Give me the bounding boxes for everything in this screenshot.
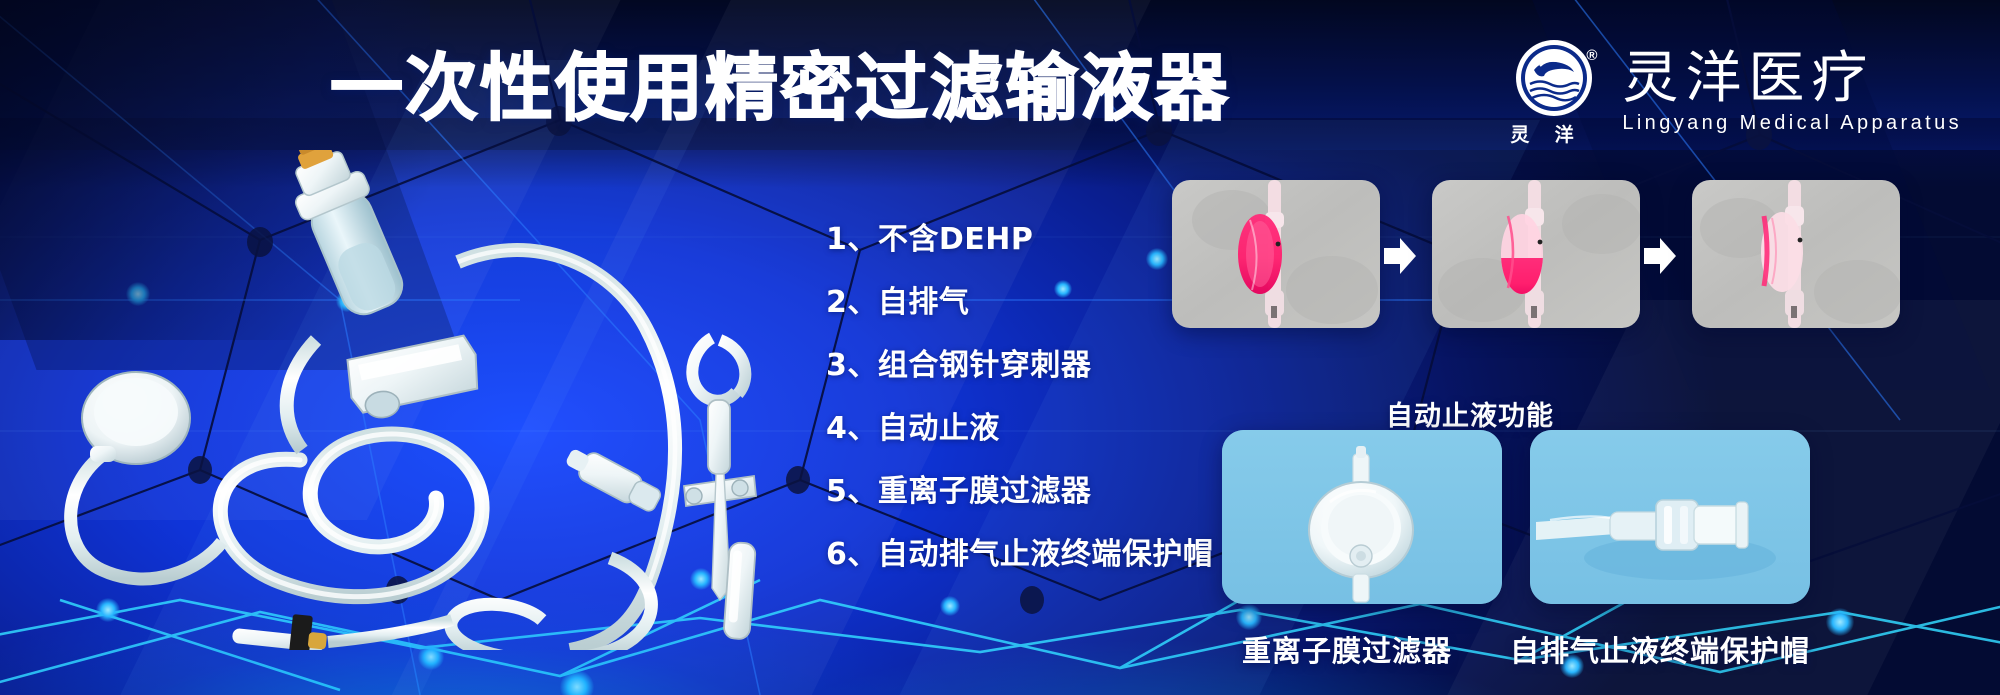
sequence-card-2 bbox=[1432, 180, 1640, 328]
logo-mark-subtext: 灵 洋 bbox=[1510, 120, 1598, 147]
infusion-set-illustration bbox=[50, 150, 840, 650]
sequence-arrow-2 bbox=[1642, 236, 1678, 276]
self-venting-end-cap-photo bbox=[1530, 430, 1810, 604]
hero-product-image bbox=[50, 150, 840, 650]
product-banner: 一次性使用精密过滤输液器 ® 灵 洋 灵洋医疗 Lingyang Medical… bbox=[0, 0, 2000, 695]
page-title: 一次性使用精密过滤输液器 bbox=[330, 47, 1230, 131]
sequence-caption: 自动止液功能 bbox=[1386, 394, 1554, 433]
product-caption-filter: 重离子膜过滤器 bbox=[1242, 628, 1452, 670]
feature-item-6: 6、自动排气止液终端保护帽 bbox=[826, 537, 1213, 573]
product-caption-end-cap: 自排气止液终端保护帽 bbox=[1510, 628, 1810, 670]
feature-item-4: 4、自动止液 bbox=[826, 411, 1213, 447]
product-card-end-cap bbox=[1530, 430, 1810, 604]
stop-valve-photo-step-1 bbox=[1172, 180, 1380, 328]
registered-trademark-icon: ® bbox=[1586, 48, 1597, 63]
product-card-filter bbox=[1222, 430, 1502, 604]
brand-name-en: Lingyang Medical Apparatus bbox=[1622, 111, 1962, 135]
feature-item-2: 2、自排气 bbox=[826, 285, 1213, 321]
brand-name-cn: 灵洋医疗 bbox=[1622, 49, 1962, 109]
seal-emblem-icon bbox=[1516, 40, 1592, 116]
sequence-card-3 bbox=[1692, 180, 1900, 328]
brand-logo: ® 灵 洋 灵洋医疗 Lingyang Medical Apparatus bbox=[1510, 40, 1962, 144]
feature-item-1: 1、不含DEHP bbox=[826, 222, 1213, 258]
feature-list: 1、不含DEHP 2、自排气 3、组合钢针穿刺器 4、自动止液 5、重离子膜过滤… bbox=[826, 222, 1213, 573]
sequence-arrow-1 bbox=[1382, 236, 1418, 276]
stop-valve-photo-step-3 bbox=[1692, 180, 1900, 328]
heavy-ion-membrane-filter-photo bbox=[1222, 430, 1502, 604]
lingyang-seal-icon: ® 灵 洋 bbox=[1510, 40, 1602, 144]
sequence-card-1 bbox=[1172, 180, 1380, 328]
stop-valve-photo-step-2 bbox=[1432, 180, 1640, 328]
feature-item-3: 3、组合钢针穿刺器 bbox=[826, 348, 1213, 384]
feature-item-5: 5、重离子膜过滤器 bbox=[826, 474, 1213, 510]
